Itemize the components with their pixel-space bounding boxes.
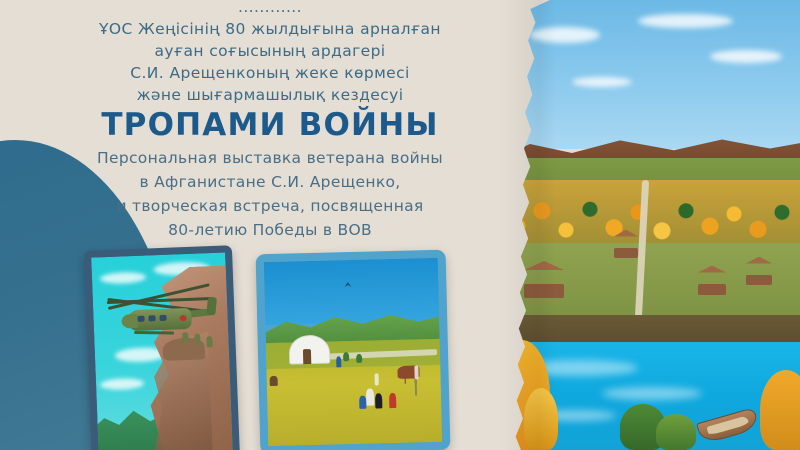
person-figure-icon	[375, 394, 382, 409]
soldier-figure-icon	[206, 336, 212, 347]
kazakh-header-block: ............ ҰОС Жеңісінің 80 жылдығына …	[0, 0, 540, 106]
russian-line-4: 80-летию Победы в ВОВ	[0, 218, 540, 242]
cart-icon	[270, 376, 278, 386]
cloud-icon	[710, 50, 782, 63]
russian-line-2: в Афганистане С.И. Арещенко,	[0, 170, 540, 194]
smoke-icon	[374, 373, 378, 385]
foliage-icon	[760, 370, 800, 450]
yurt-door	[302, 349, 311, 364]
kazakh-line-3: С.И. Арещенконың жеке көрмесі	[0, 62, 540, 84]
helicopter-tail-fin	[206, 297, 217, 316]
cloud-icon	[572, 77, 632, 87]
kazakh-line-4: және шығармашылық кездесуі	[0, 84, 540, 106]
helicopter-landing-skid	[134, 331, 174, 334]
page-title: ТРОПАМИ ВОЙНЫ	[0, 107, 540, 143]
cloud-icon	[638, 14, 733, 28]
soldier-figure-icon	[194, 334, 200, 345]
house-icon	[524, 284, 564, 298]
horse-leg	[404, 376, 406, 383]
smoke-icon	[414, 365, 418, 379]
background-landscape-photo	[500, 0, 800, 450]
painting-steppe	[264, 258, 442, 446]
house-icon	[746, 275, 772, 285]
helicopter-window	[137, 316, 144, 322]
pole-icon	[415, 380, 417, 396]
tree-icon	[343, 352, 349, 361]
foliage-icon	[524, 388, 558, 450]
house-icon	[698, 284, 726, 295]
russian-body-block: Персональная выставка ветерана войны в А…	[0, 146, 540, 242]
landscape-scene	[500, 0, 800, 450]
helicopter-window	[148, 315, 155, 321]
kazakh-line-1: ҰОС Жеңісінің 80 жылдығына арналған	[0, 18, 540, 40]
kazakh-cut-line: ............	[0, 0, 540, 18]
water-reflection	[602, 387, 702, 400]
person-figure-icon	[389, 393, 396, 408]
person-figure-icon	[359, 396, 366, 409]
artwork-card-steppe	[256, 250, 451, 450]
boat-interior	[706, 415, 749, 435]
person-figure-icon	[336, 356, 341, 367]
person-figure-icon	[366, 388, 374, 405]
soldier-figure-icon	[182, 332, 188, 343]
russian-line-3: и творческая встреча, посвященная	[0, 194, 540, 218]
painting2-sky	[264, 258, 439, 325]
foliage-icon	[656, 414, 696, 450]
kazakh-line-2: ауған соғысының ардагері	[0, 40, 540, 62]
poster-canvas: ............ ҰОС Жеңісінің 80 жылдығына …	[0, 0, 800, 450]
house-icon	[614, 248, 638, 258]
painting-helicopter	[91, 253, 233, 450]
artwork-card-helicopter	[84, 245, 240, 450]
cloud-icon	[530, 27, 600, 43]
russian-line-1: Персональная выставка ветерана войны	[0, 146, 540, 170]
helicopter-window	[159, 315, 166, 321]
helicopter-nose	[121, 314, 138, 329]
